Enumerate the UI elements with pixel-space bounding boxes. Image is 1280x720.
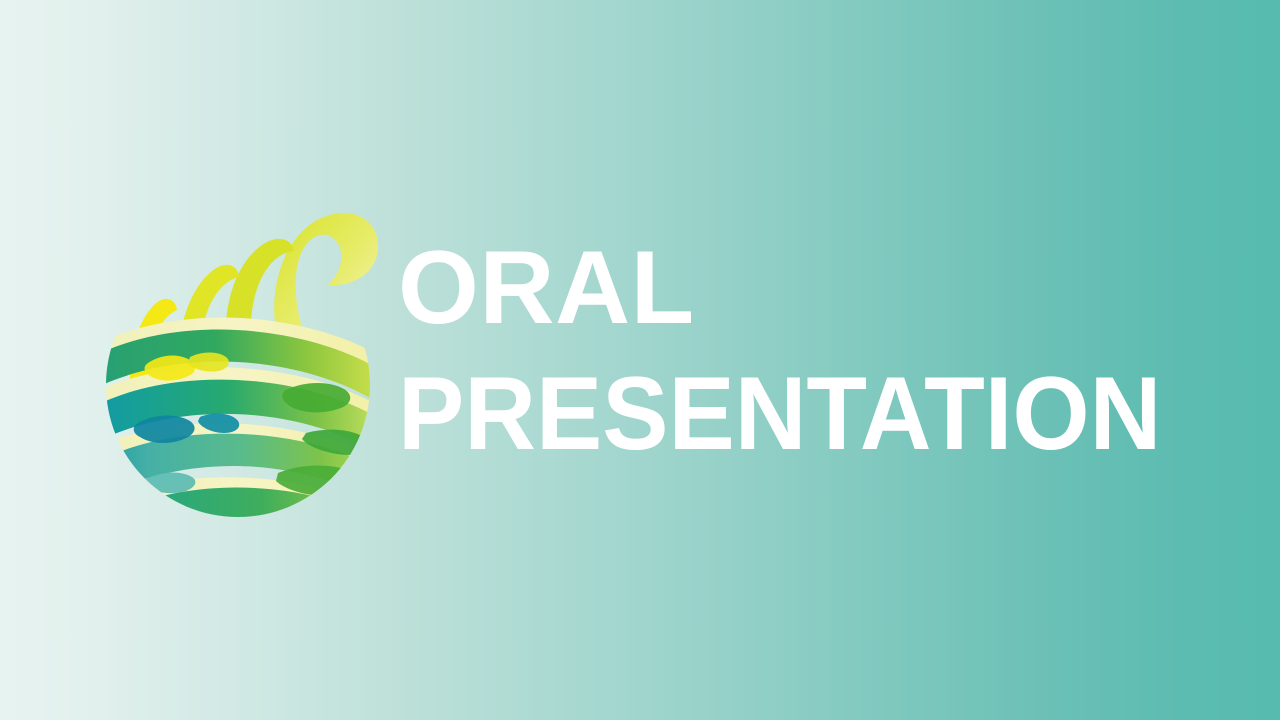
- globe-ribbon-logo: [92, 205, 384, 517]
- title-slide: ORAL PRESENTATION: [0, 0, 1280, 720]
- page-title-line-2: PRESENTATION: [398, 362, 1191, 466]
- slide-title-block: ORAL PRESENTATION: [398, 236, 1228, 466]
- logo-globe-bands: [92, 253, 384, 517]
- page-title-line-1: ORAL: [398, 236, 1228, 340]
